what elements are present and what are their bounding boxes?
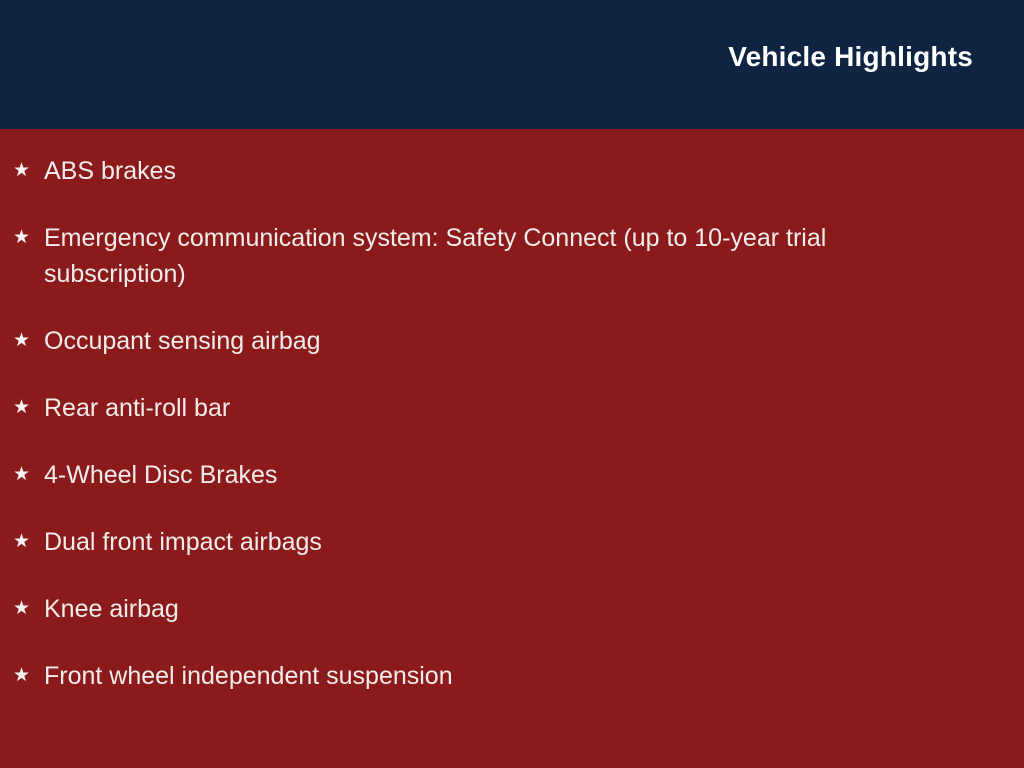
list-item-label: Rear anti-roll bar xyxy=(44,390,949,426)
list-item: ★ Rear anti-roll bar xyxy=(13,390,984,426)
star-bullet-icon: ★ xyxy=(13,390,44,425)
list-item-label: ABS brakes xyxy=(44,153,949,189)
star-bullet-icon: ★ xyxy=(13,658,44,693)
slide-header-band: Vehicle Highlights xyxy=(0,0,1024,129)
vehicle-highlights-list: ★ ABS brakes ★ Emergency communication s… xyxy=(13,153,984,694)
list-item-label: Emergency communication system: Safety C… xyxy=(44,220,949,292)
list-item-label: Occupant sensing airbag xyxy=(44,323,949,359)
page-title: Vehicle Highlights xyxy=(728,42,973,73)
slide-body: ★ ABS brakes ★ Emergency communication s… xyxy=(0,129,1024,768)
slide: Vehicle Highlights ★ ABS brakes ★ Emerge… xyxy=(0,0,1024,768)
list-item: ★ Occupant sensing airbag xyxy=(13,323,984,359)
list-item-label: 4-Wheel Disc Brakes xyxy=(44,457,949,493)
list-item-label: Knee airbag xyxy=(44,591,949,627)
list-item-label: Front wheel independent suspension xyxy=(44,658,949,694)
star-bullet-icon: ★ xyxy=(13,220,44,255)
star-bullet-icon: ★ xyxy=(13,524,44,559)
star-bullet-icon: ★ xyxy=(13,591,44,626)
list-item-label: Dual front impact airbags xyxy=(44,524,949,560)
star-bullet-icon: ★ xyxy=(13,457,44,492)
list-item: ★ 4-Wheel Disc Brakes xyxy=(13,457,984,493)
star-bullet-icon: ★ xyxy=(13,153,44,188)
list-item: ★ ABS brakes xyxy=(13,153,984,189)
list-item: ★ Emergency communication system: Safety… xyxy=(13,220,984,292)
star-bullet-icon: ★ xyxy=(13,323,44,358)
list-item: ★ Dual front impact airbags xyxy=(13,524,984,560)
list-item: ★ Front wheel independent suspension xyxy=(13,658,984,694)
list-item: ★ Knee airbag xyxy=(13,591,984,627)
